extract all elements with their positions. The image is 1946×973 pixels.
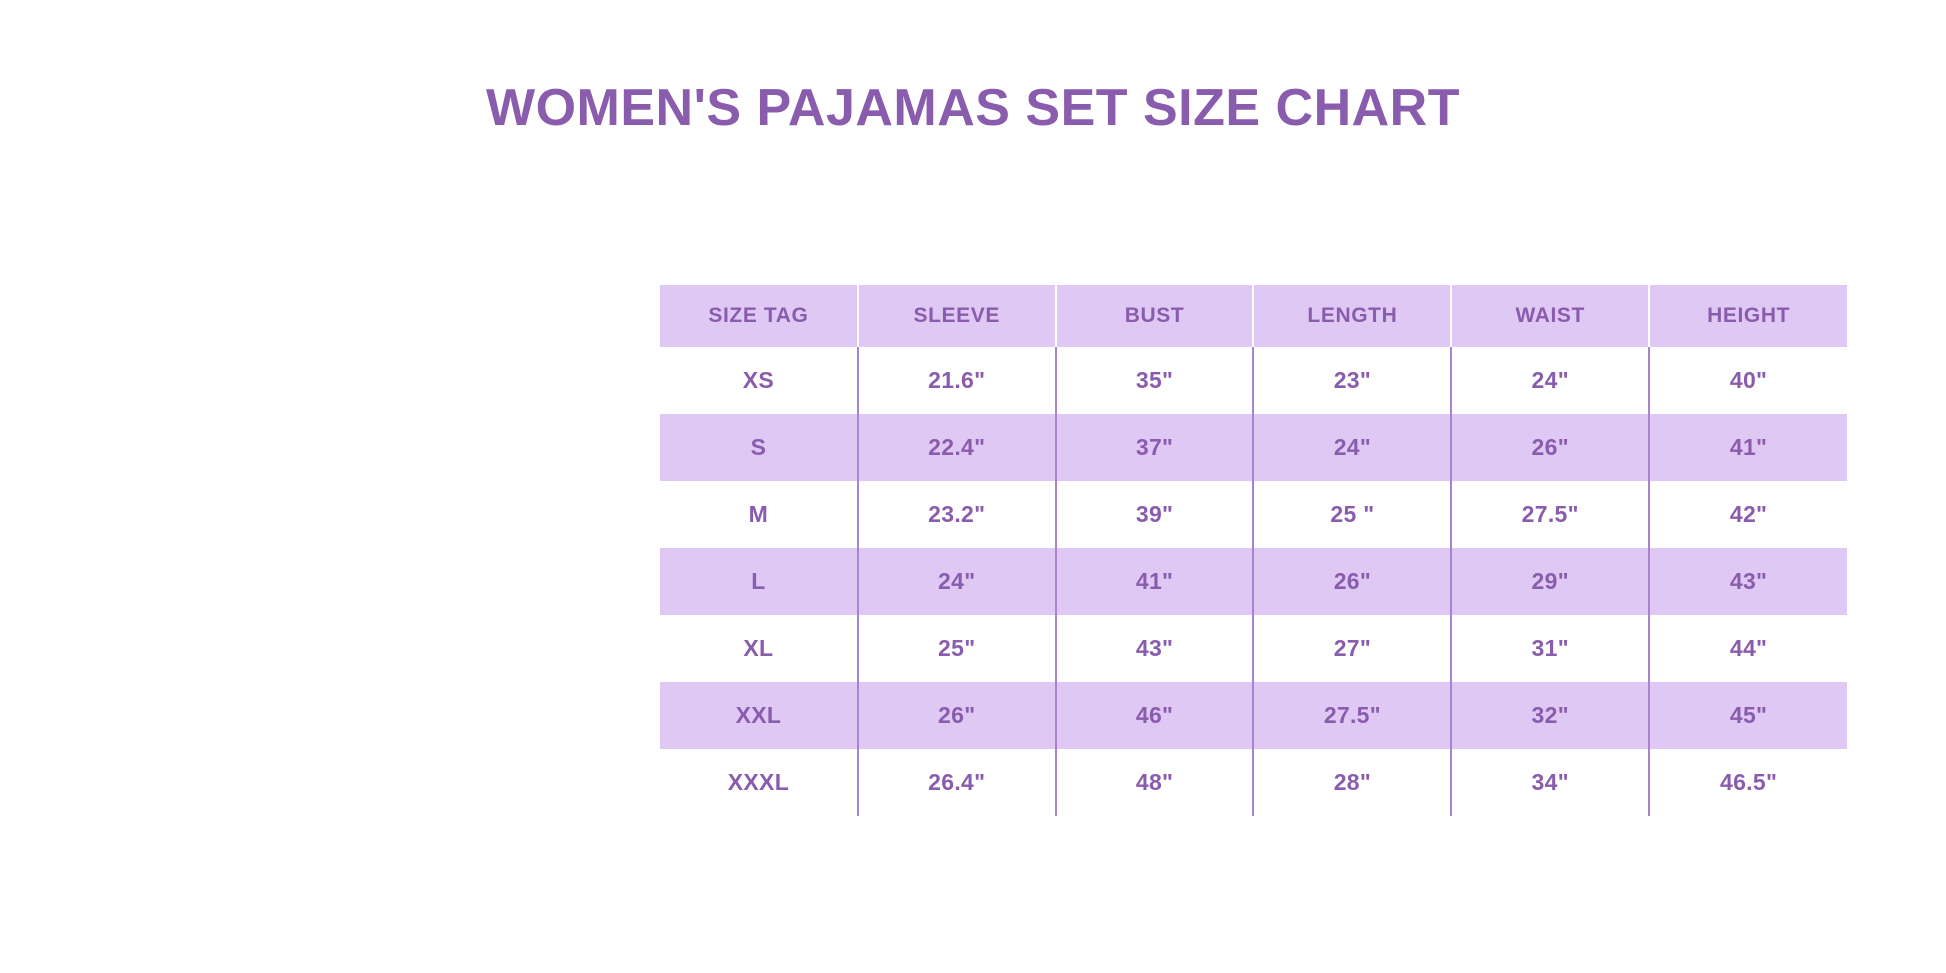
cell-size-tag: L bbox=[660, 548, 858, 615]
cell-length: 26" bbox=[1253, 548, 1451, 615]
table-body: XS 21.6" 35" 23" 24" 40" S 22.4" 37" 24"… bbox=[660, 347, 1847, 816]
table-row: XS 21.6" 35" 23" 24" 40" bbox=[660, 347, 1847, 414]
table-row: XL 25" 43" 27" 31" 44" bbox=[660, 615, 1847, 682]
cell-sleeve: 23.2" bbox=[858, 481, 1056, 548]
table-row: XXL 26" 46" 27.5" 32" 45" bbox=[660, 682, 1847, 749]
column-header-bust: BUST bbox=[1056, 285, 1254, 347]
page-title: WOMEN'S PAJAMAS SET SIZE CHART bbox=[0, 78, 1946, 138]
cell-sleeve: 26.4" bbox=[858, 749, 1056, 816]
cell-waist: 34" bbox=[1451, 749, 1649, 816]
cell-length: 23" bbox=[1253, 347, 1451, 414]
cell-size-tag: M bbox=[660, 481, 858, 548]
cell-height: 42" bbox=[1649, 481, 1847, 548]
column-header-waist: WAIST bbox=[1451, 285, 1649, 347]
table-row: S 22.4" 37" 24" 26" 41" bbox=[660, 414, 1847, 481]
cell-bust: 46" bbox=[1056, 682, 1254, 749]
cell-length: 24" bbox=[1253, 414, 1451, 481]
cell-bust: 48" bbox=[1056, 749, 1254, 816]
cell-size-tag: XXXL bbox=[660, 749, 858, 816]
cell-height: 41" bbox=[1649, 414, 1847, 481]
cell-size-tag: XL bbox=[660, 615, 858, 682]
cell-height: 46.5" bbox=[1649, 749, 1847, 816]
cell-waist: 24" bbox=[1451, 347, 1649, 414]
cell-waist: 27.5" bbox=[1451, 481, 1649, 548]
cell-waist: 26" bbox=[1451, 414, 1649, 481]
column-header-length: LENGTH bbox=[1253, 285, 1451, 347]
cell-bust: 37" bbox=[1056, 414, 1254, 481]
cell-bust: 39" bbox=[1056, 481, 1254, 548]
column-header-size-tag: SIZE TAG bbox=[660, 285, 858, 347]
cell-sleeve: 21.6" bbox=[858, 347, 1056, 414]
size-chart-table: SIZE TAG SLEEVE BUST LENGTH WAIST HEIGHT… bbox=[660, 285, 1847, 816]
cell-size-tag: XS bbox=[660, 347, 858, 414]
cell-length: 25 " bbox=[1253, 481, 1451, 548]
cell-sleeve: 25" bbox=[858, 615, 1056, 682]
cell-bust: 43" bbox=[1056, 615, 1254, 682]
table-header-row: SIZE TAG SLEEVE BUST LENGTH WAIST HEIGHT bbox=[660, 285, 1847, 347]
column-header-sleeve: SLEEVE bbox=[858, 285, 1056, 347]
cell-size-tag: S bbox=[660, 414, 858, 481]
table-header: SIZE TAG SLEEVE BUST LENGTH WAIST HEIGHT bbox=[660, 285, 1847, 347]
cell-sleeve: 26" bbox=[858, 682, 1056, 749]
table-row: M 23.2" 39" 25 " 27.5" 42" bbox=[660, 481, 1847, 548]
cell-height: 44" bbox=[1649, 615, 1847, 682]
cell-length: 28" bbox=[1253, 749, 1451, 816]
cell-bust: 41" bbox=[1056, 548, 1254, 615]
table-row: L 24" 41" 26" 29" 43" bbox=[660, 548, 1847, 615]
column-header-height: HEIGHT bbox=[1649, 285, 1847, 347]
cell-height: 40" bbox=[1649, 347, 1847, 414]
cell-size-tag: XXL bbox=[660, 682, 858, 749]
cell-length: 27.5" bbox=[1253, 682, 1451, 749]
cell-height: 45" bbox=[1649, 682, 1847, 749]
cell-sleeve: 22.4" bbox=[858, 414, 1056, 481]
size-chart-page: WOMEN'S PAJAMAS SET SIZE CHART SIZE TAG … bbox=[0, 0, 1946, 973]
cell-waist: 29" bbox=[1451, 548, 1649, 615]
cell-sleeve: 24" bbox=[858, 548, 1056, 615]
size-chart-table-container: SIZE TAG SLEEVE BUST LENGTH WAIST HEIGHT… bbox=[660, 285, 1847, 816]
cell-height: 43" bbox=[1649, 548, 1847, 615]
table-row: XXXL 26.4" 48" 28" 34" 46.5" bbox=[660, 749, 1847, 816]
cell-length: 27" bbox=[1253, 615, 1451, 682]
cell-waist: 32" bbox=[1451, 682, 1649, 749]
cell-bust: 35" bbox=[1056, 347, 1254, 414]
cell-waist: 31" bbox=[1451, 615, 1649, 682]
